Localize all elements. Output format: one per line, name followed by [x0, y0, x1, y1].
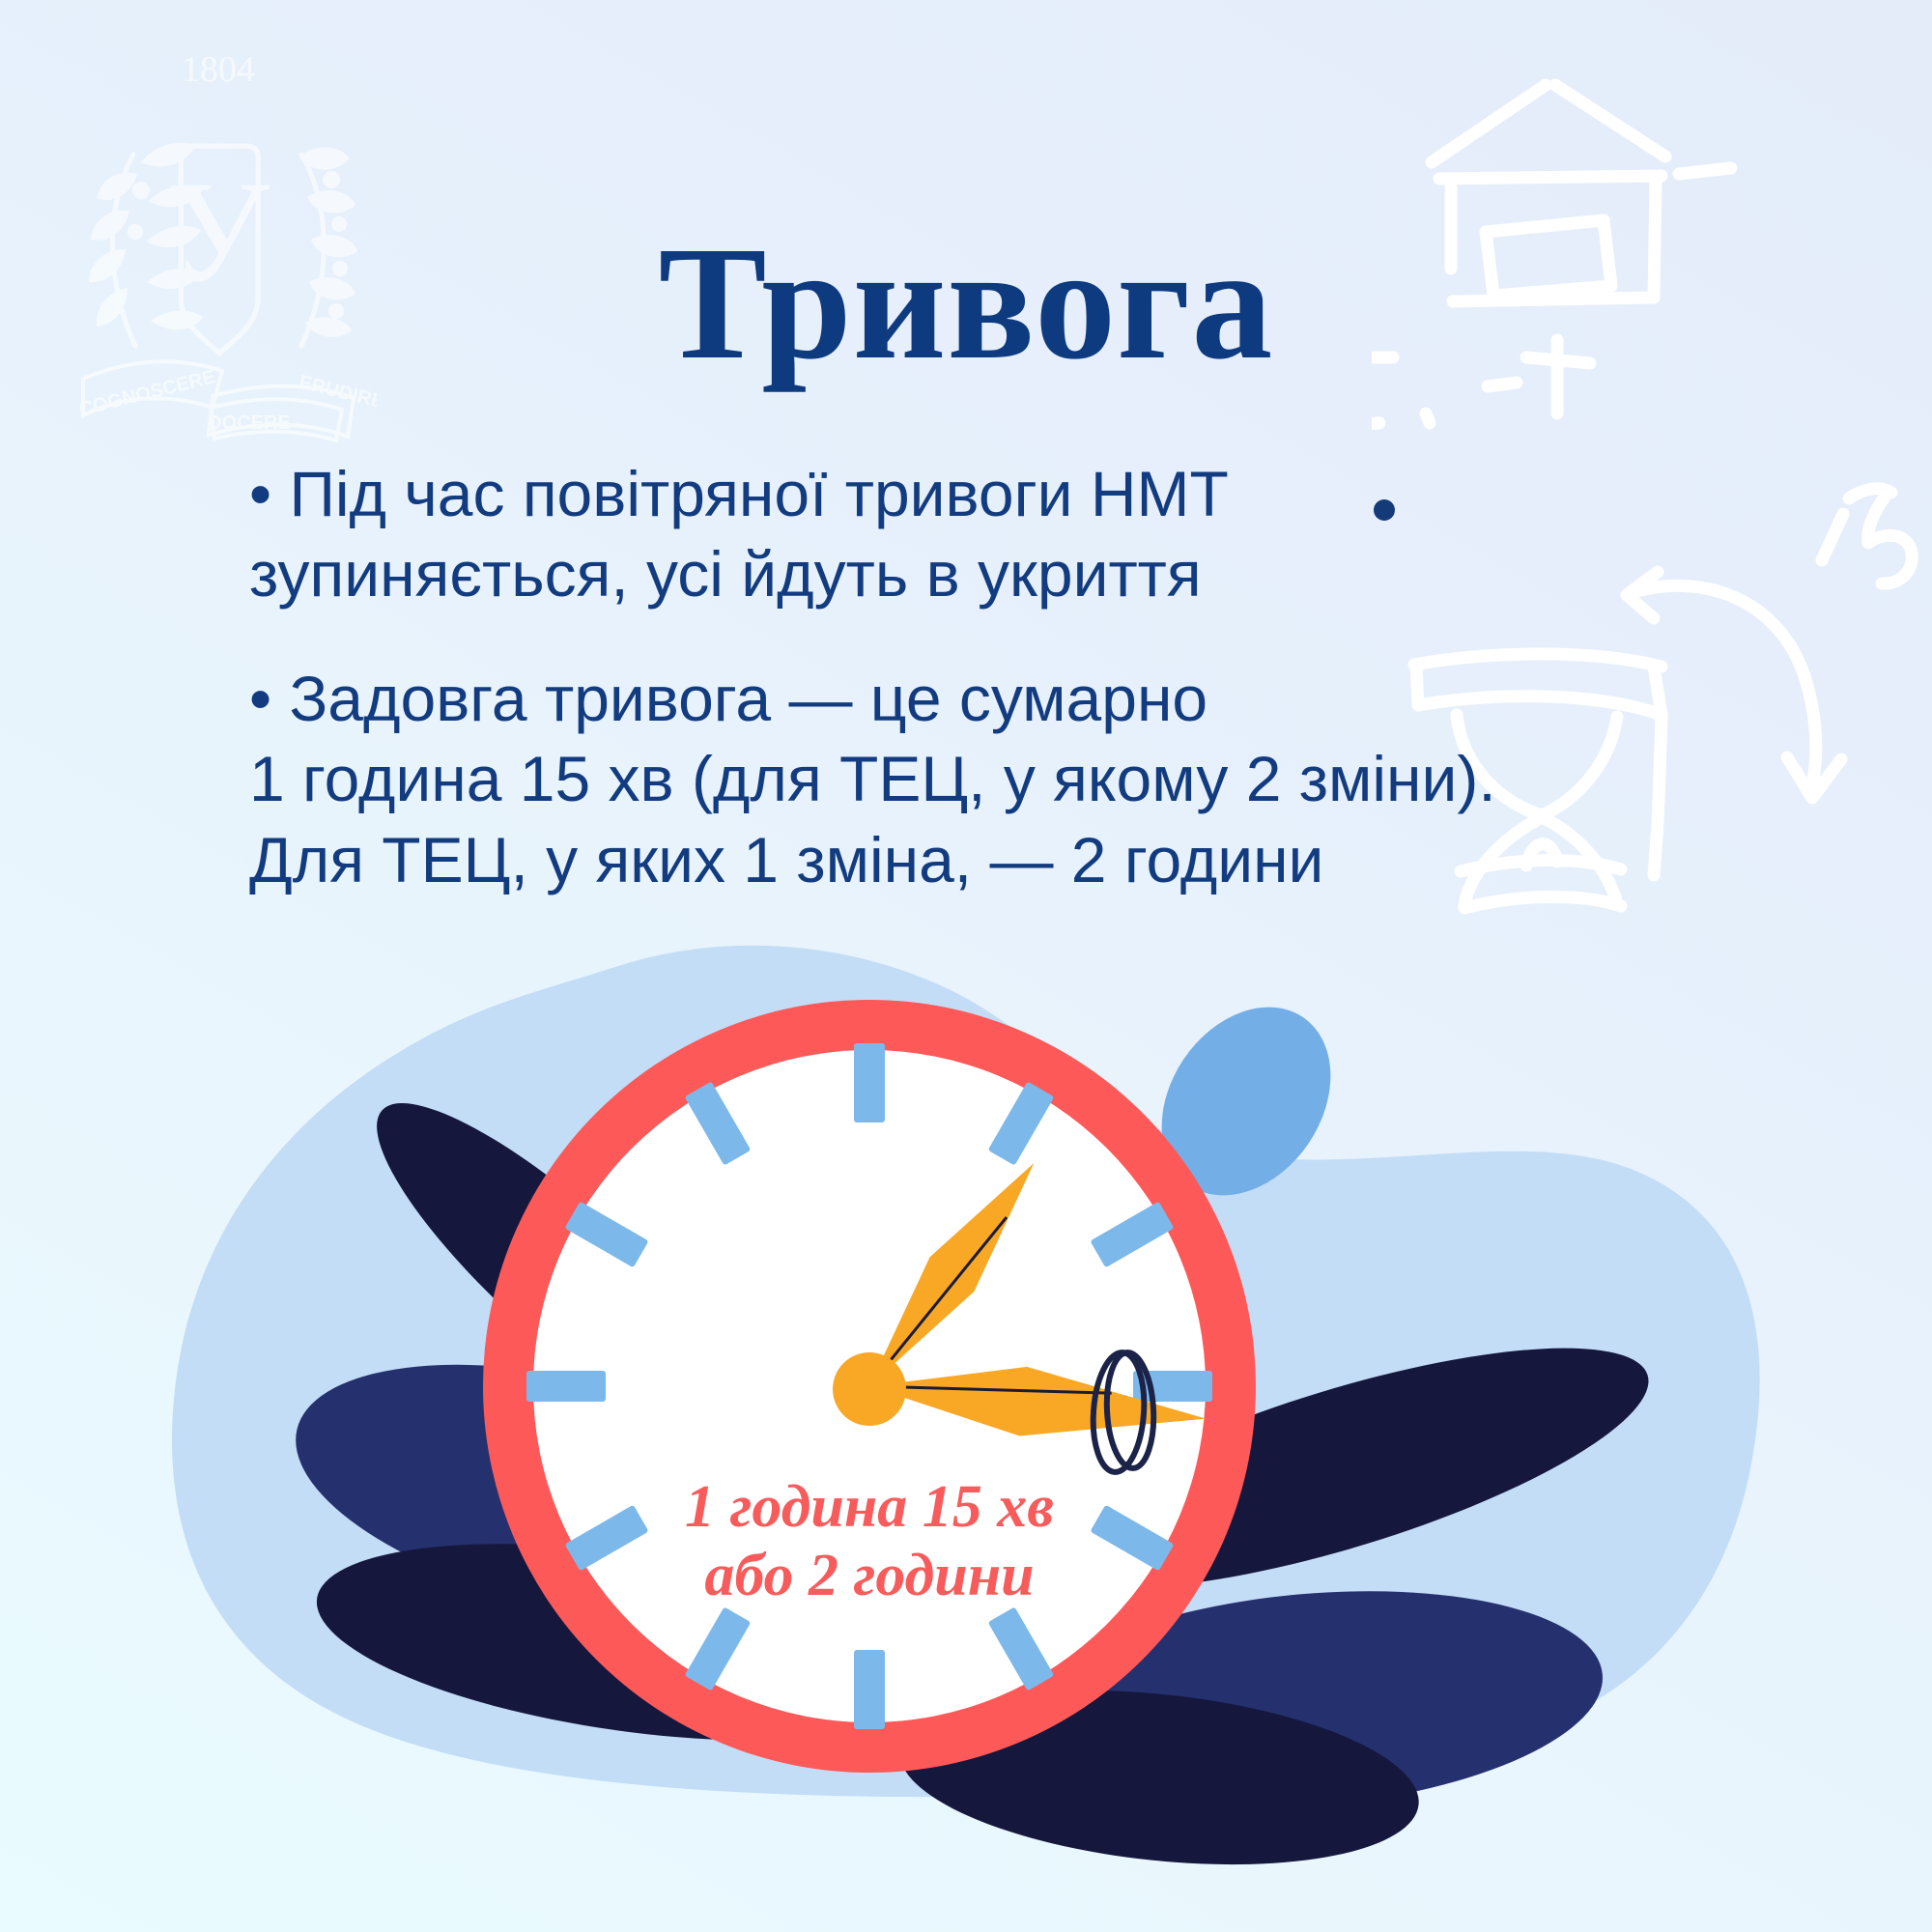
poster-canvas: 1804 У COGNOSCERE DOCERE ERUDIRE: [0, 0, 1932, 1932]
clock-caption: 1 година 15 хв або 2 години: [618, 1473, 1121, 1609]
alarm-clock-illustration: [0, 0, 1932, 1932]
clock-center-pin: [833, 1352, 906, 1426]
clock-caption-line-1: 1 година 15 хв: [618, 1473, 1121, 1542]
clock-caption-line-2: або 2 години: [618, 1542, 1121, 1610]
